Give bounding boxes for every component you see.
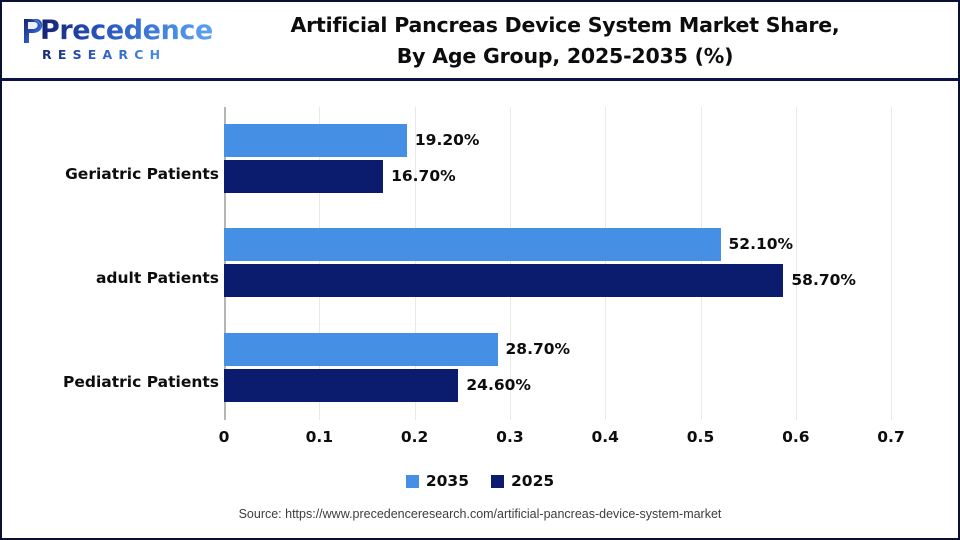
bar-2025 [224, 264, 783, 297]
legend-swatch-icon [491, 475, 504, 488]
bar-2035 [224, 333, 498, 366]
bar-group: 28.70% 24.60% [224, 316, 891, 420]
bar-value-label: 19.20% [415, 124, 480, 157]
bar-value-label: 58.70% [791, 264, 856, 297]
gridline [891, 107, 892, 420]
bar-value-label: 16.70% [391, 160, 456, 193]
bar-2035 [224, 124, 407, 157]
x-tick-label: 0.7 [877, 428, 904, 446]
page-title: Artificial Pancreas Device System Market… [202, 10, 928, 72]
bar-2035 [224, 228, 721, 261]
chart-infographic: Precedence RESEARCH Artificial Pancreas … [0, 0, 960, 540]
category-label: adult Patients [29, 269, 219, 287]
category-label: Geriatric Patients [29, 165, 219, 183]
x-tick-label: 0.5 [687, 428, 714, 446]
chart-body: Geriatric Patients adult Patients Pediat… [2, 84, 958, 538]
x-tick-label: 0.1 [306, 428, 333, 446]
title-line-2: By Age Group, 2025-2035 (%) [202, 41, 928, 72]
legend-label: 2035 [426, 472, 469, 490]
bar-value-label: 52.10% [729, 228, 794, 261]
bar-2025 [224, 160, 383, 193]
bar-value-label: 28.70% [506, 333, 571, 366]
x-tick-label: 0 [219, 428, 230, 446]
logo-tagline: RESEARCH [42, 47, 166, 62]
header: Precedence RESEARCH Artificial Pancreas … [2, 2, 958, 81]
legend-label: 2025 [511, 472, 554, 490]
x-tick-label: 0.6 [782, 428, 809, 446]
title-line-1: Artificial Pancreas Device System Market… [202, 10, 928, 41]
x-tick-label: 0.2 [401, 428, 428, 446]
value-axis-ticks: 0 0.1 0.2 0.3 0.4 0.5 0.6 0.7 [224, 420, 891, 450]
precedence-research-logo: Precedence RESEARCH [14, 16, 174, 68]
x-tick-label: 0.3 [496, 428, 523, 446]
bar-group: 52.10% 58.70% [224, 211, 891, 315]
chart-legend: 2035 2025 [2, 472, 958, 490]
category-axis-labels: Geriatric Patients adult Patients Pediat… [14, 107, 219, 420]
bar-value-label: 24.60% [466, 369, 531, 402]
legend-item-2035[interactable]: 2035 [406, 472, 469, 490]
legend-swatch-icon [406, 475, 419, 488]
source-caption: Source: https://www.precedenceresearch.c… [2, 507, 958, 521]
category-label: Pediatric Patients [29, 373, 219, 391]
logo-wordmark: Precedence [40, 16, 213, 46]
bar-group: 19.20% 16.70% [224, 107, 891, 211]
legend-item-2025[interactable]: 2025 [491, 472, 554, 490]
x-tick-label: 0.4 [591, 428, 618, 446]
bar-2025 [224, 369, 458, 402]
plot-area: 19.20% 16.70% 52.10% 58.70% 28.70% 24.60… [224, 107, 891, 420]
